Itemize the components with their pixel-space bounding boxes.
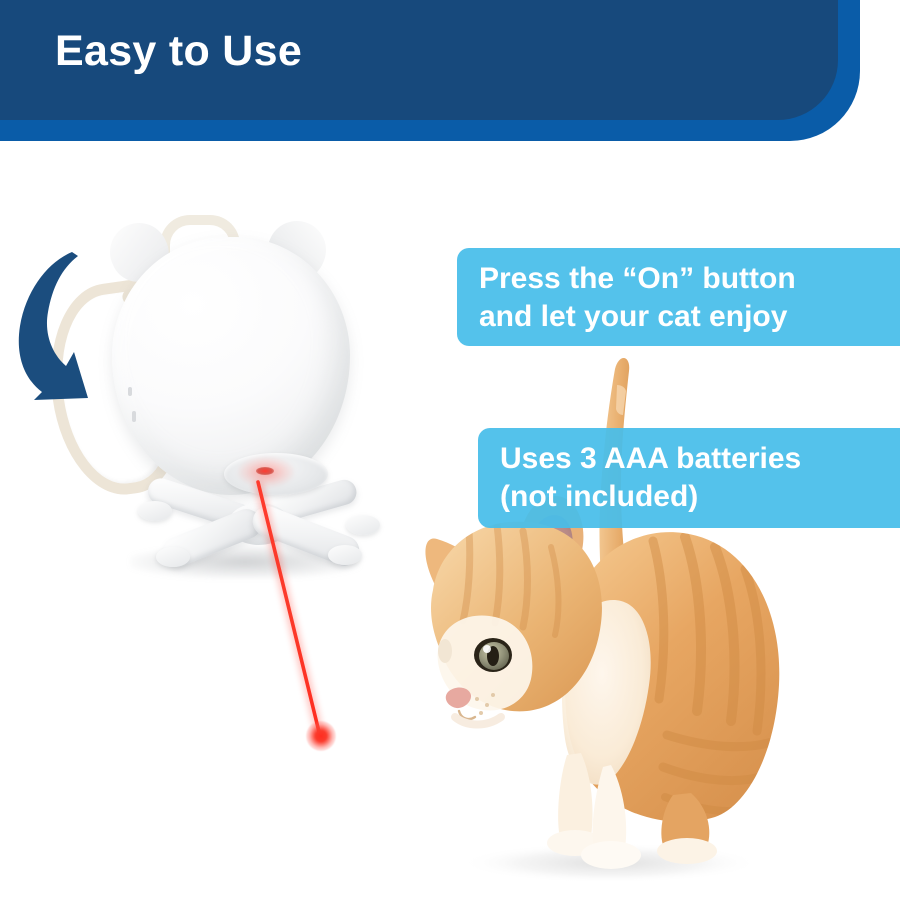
- callout-battery-info: Uses 3 AAA batteries (not included): [478, 428, 900, 528]
- callout-1-line-2: and let your cat enjoy: [479, 298, 899, 336]
- tripod-foot-4: [328, 545, 362, 565]
- callout-press-on-button: Press the “On” button and let your cat e…: [457, 248, 900, 346]
- callout-2-line-1: Uses 3 AAA batteries: [500, 440, 900, 478]
- tripod-foot-2: [346, 515, 380, 535]
- promo-image-canvas: Easy to Use: [0, 0, 900, 900]
- tripod-foot-3: [156, 547, 190, 567]
- curved-arrow-pointing-to-power-button: [8, 248, 118, 408]
- laser-aperture: [256, 467, 274, 475]
- kitten-far-eye: [438, 639, 452, 663]
- kitten-chin: [455, 717, 501, 725]
- device-seam-mark-top: [128, 387, 132, 396]
- laser-dot: [306, 721, 336, 751]
- kitten-hind-paw: [657, 838, 717, 864]
- device-seam-mark-bottom: [132, 411, 136, 422]
- page-title: Easy to Use: [55, 28, 302, 75]
- callout-2-line-2: (not included): [500, 478, 900, 516]
- callout-1-line-1: Press the “On” button: [479, 260, 899, 298]
- kitten-eye-highlight: [483, 645, 491, 653]
- tripod-foot-1: [138, 501, 172, 521]
- kitten-front-paw-right: [581, 841, 641, 869]
